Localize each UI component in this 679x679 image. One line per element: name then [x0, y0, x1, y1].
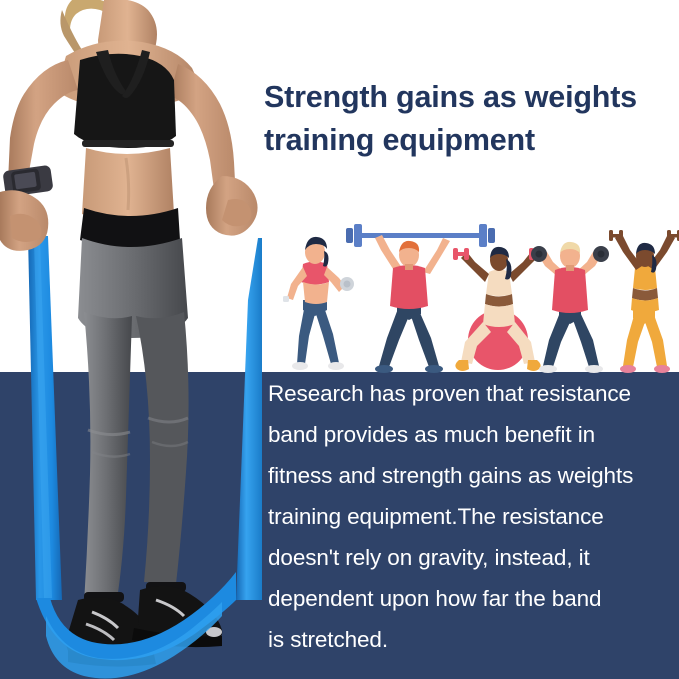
dumbbell-icon [340, 277, 354, 291]
exercise-figures-illustration [283, 218, 679, 374]
body-line-3: fitness and strength gains as weights [268, 456, 676, 497]
body-line-4: training equipment.The resistance [268, 497, 676, 538]
headline-line-2: training equipment [264, 119, 674, 162]
resistance-band-photo [0, 0, 262, 679]
dumbbell-icon [609, 230, 679, 241]
body-line-1: Research has proven that resistance [268, 374, 676, 415]
headline-line-1: Strength gains as weights [264, 76, 674, 119]
marketing-image-canvas: Strength gains as weights training equip… [0, 0, 679, 679]
body-line-7: is stretched. [268, 620, 676, 661]
barbell-icon [346, 224, 495, 247]
body-line-6: dependent upon how far the band [268, 579, 676, 620]
body-paragraph: Research has proven that resistance band… [268, 374, 676, 661]
figure-man-shoulder-press [531, 242, 609, 373]
body-line-5: doesn't rely on gravity, instead, it [268, 538, 676, 579]
figure-woman-on-exercise-ball [453, 247, 545, 371]
body-line-2: band provides as much benefit in [268, 415, 676, 456]
figure-woman-with-dumbbell [283, 237, 354, 370]
figure-woman-arms-raised [609, 230, 679, 373]
page-title: Strength gains as weights training equip… [264, 76, 674, 163]
